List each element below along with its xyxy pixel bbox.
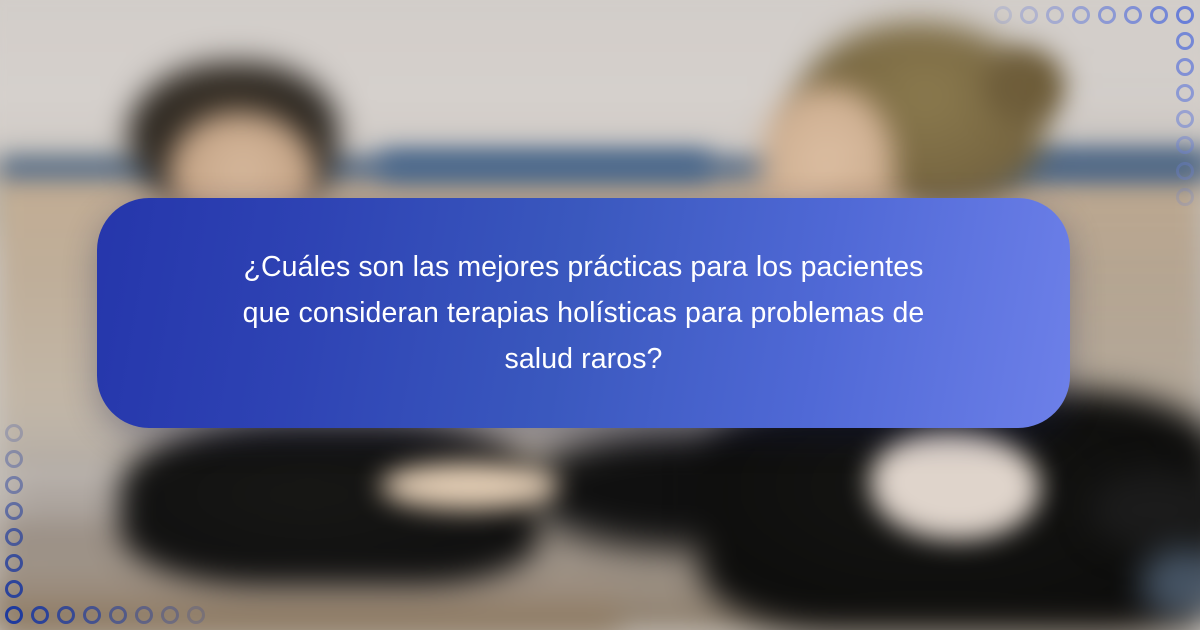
quote-question-text: ¿Cuáles son las mejores prácticas para l… <box>199 244 969 382</box>
background-blue-band-left <box>380 152 710 178</box>
background-person-left-arm <box>380 462 560 510</box>
quote-card: ¿Cuáles son las mejores prácticas para l… <box>97 198 1070 428</box>
